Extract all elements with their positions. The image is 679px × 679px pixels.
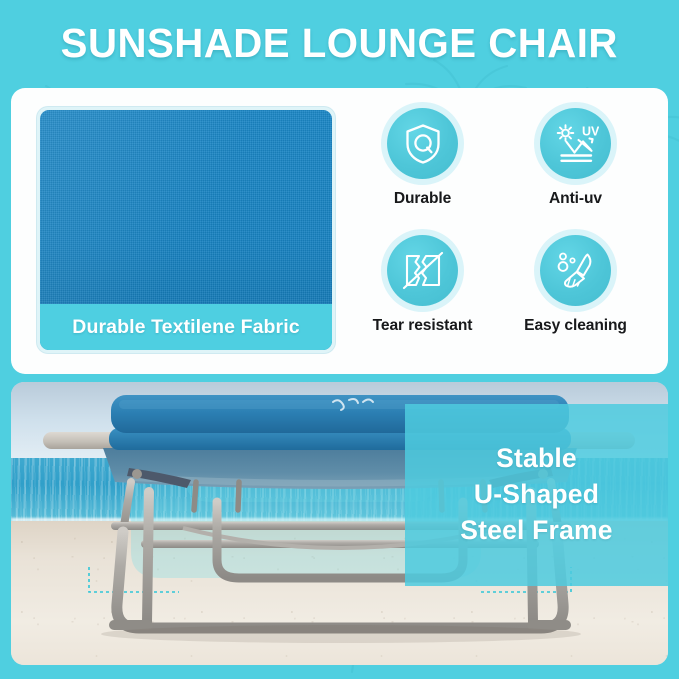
fabric-caption-text: Durable Textilene Fabric bbox=[72, 316, 299, 339]
frame-callout-overlay: Stable U-Shaped Steel Frame bbox=[405, 404, 668, 586]
tear-resistant-icon-badge bbox=[387, 235, 458, 306]
feature-easy-cleaning: Easy cleaning bbox=[502, 231, 649, 356]
infographic-page: SUNSHADE LOUNGE CHAIR Durable Textilene … bbox=[0, 0, 679, 679]
feature-label-durable: Durable bbox=[394, 190, 451, 208]
feature-anti-uv: UV bbox=[502, 104, 649, 229]
shield-check-icon-badge bbox=[387, 108, 458, 179]
features-card: Durable Textilene Fabric Durable bbox=[11, 88, 668, 374]
feature-durable: Durable bbox=[349, 104, 496, 229]
tear-resistant-icon bbox=[402, 249, 444, 293]
fabric-caption: Durable Textilene Fabric bbox=[40, 304, 332, 350]
feature-label-easy-cleaning: Easy cleaning bbox=[524, 317, 627, 335]
frame-callout-line-1: Stable bbox=[496, 442, 577, 476]
feature-label-tear-resistant: Tear resistant bbox=[373, 317, 473, 335]
feature-label-anti-uv: Anti-uv bbox=[549, 190, 602, 208]
feature-grid: Durable bbox=[349, 104, 649, 356]
page-title: SUNSHADE LOUNGE CHAIR bbox=[61, 20, 618, 67]
feature-tear-resistant: Tear resistant bbox=[349, 231, 496, 356]
shield-check-icon bbox=[403, 122, 443, 166]
anti-uv-icon-text: UV bbox=[582, 124, 599, 138]
header: SUNSHADE LOUNGE CHAIR bbox=[0, 0, 679, 86]
easy-cleaning-icon bbox=[554, 249, 598, 293]
easy-cleaning-icon-badge bbox=[540, 235, 611, 306]
anti-uv-icon-badge: UV bbox=[540, 108, 611, 179]
frame-callout-line-2: U-Shaped bbox=[474, 478, 599, 512]
frame-callout-line-3: Steel Frame bbox=[460, 514, 612, 548]
fabric-swatch-frame: Durable Textilene Fabric bbox=[37, 107, 335, 353]
anti-uv-icon: UV bbox=[553, 122, 599, 166]
textilene-fabric-swatch: Durable Textilene Fabric bbox=[40, 110, 332, 350]
product-photo-card: Stable U-Shaped Steel Frame bbox=[11, 382, 668, 665]
